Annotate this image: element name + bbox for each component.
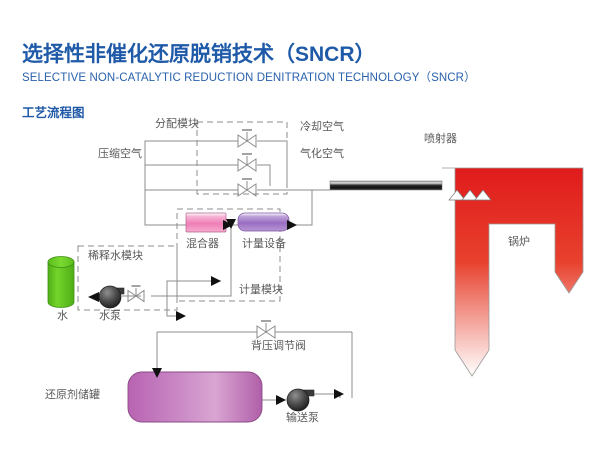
label-reductant-tank: 还原剂储罐 (45, 386, 100, 402)
pipe-cooling-to-lance (197, 141, 287, 178)
reductant-tank-body (128, 372, 262, 422)
water-tank-top (48, 257, 74, 268)
distribution-module-group (197, 122, 287, 194)
label-transfer-pump: 输送泵 (286, 409, 319, 425)
lance-body (330, 181, 442, 190)
label-distribution-module: 分配模块 (155, 115, 199, 131)
valve-dilution-water-icon (128, 286, 144, 302)
pipe-branch-cooling (145, 141, 197, 165)
valve-cooling-air-icon (238, 130, 256, 147)
label-metering-module: 计量模块 (239, 281, 283, 297)
label-compressed-air: 压缩空气 (98, 145, 142, 161)
arrow-pump-out (334, 389, 344, 399)
mixer-body (186, 213, 226, 232)
valve-gasification-air-icon (238, 154, 256, 171)
arrow-tank-to-pump (276, 395, 286, 405)
mixer-vessel (186, 213, 226, 232)
pipe-gasif-to-lance (197, 165, 270, 178)
water-tank (48, 257, 74, 308)
transfer-pump-body (287, 389, 309, 411)
label-dilution-water-module: 稀释水模块 (88, 247, 143, 263)
metering-equipment-vessel (238, 213, 289, 231)
pipe-meter-to-lance (289, 190, 312, 225)
reductant-storage-tank (128, 372, 262, 422)
pipe-to-mixer (145, 190, 186, 225)
arrow-water-to-pump (88, 292, 99, 302)
valve-back-pressure-icon (257, 321, 275, 338)
label-cooling-air: 冷却空气 (300, 118, 344, 134)
arrow-low-branch (176, 311, 186, 321)
label-water: 水 (57, 307, 68, 323)
arrow-to-metering-module (211, 276, 221, 286)
label-water-pump: 水泵 (99, 307, 121, 323)
water-tank-body (48, 262, 74, 308)
water-pump (99, 286, 124, 308)
pipe-network (78, 141, 352, 400)
transfer-pump (287, 389, 314, 411)
metering-body (238, 213, 289, 231)
pipe-branch-atomizing (145, 165, 197, 190)
label-boiler: 锅炉 (508, 233, 530, 249)
process-flow-diagram (0, 0, 600, 450)
valve-atomizing-air-icon (238, 179, 256, 196)
label-metering-equipment: 计量设备 (242, 235, 286, 251)
label-mixer: 混合器 (186, 235, 219, 251)
valves (128, 130, 275, 338)
arrow-meter-out (287, 220, 297, 230)
water-pump-body (99, 286, 121, 308)
slide-canvas: 选择性非催化还原脱销技术（SNCR） SELECTIVE NON-CATALYT… (0, 0, 600, 450)
label-back-pressure-valve: 背压调节阀 (251, 337, 306, 353)
label-injector: 喷射器 (424, 130, 457, 146)
label-gasification-air: 气化空气 (300, 145, 344, 161)
